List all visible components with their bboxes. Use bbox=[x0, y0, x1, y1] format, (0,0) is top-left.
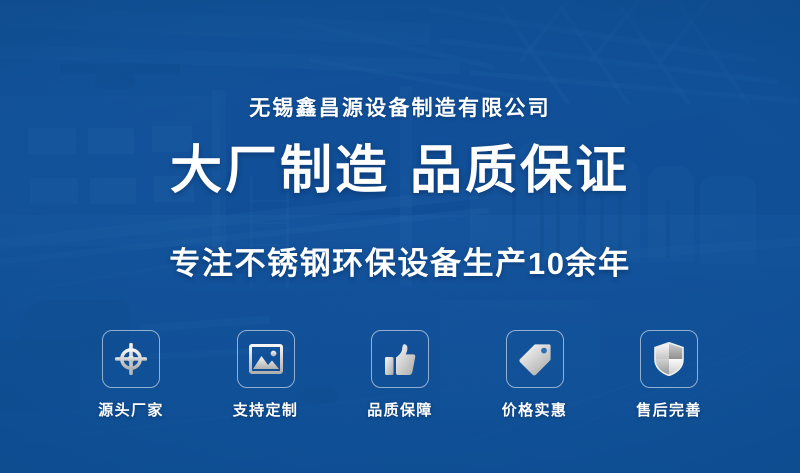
feature-label: 品质保障 bbox=[367, 399, 433, 420]
subheadline: 专注不锈钢环保设备生产10余年 bbox=[0, 238, 800, 283]
icon-box bbox=[237, 330, 295, 388]
company-name: 无锡鑫昌源设备制造有限公司 bbox=[0, 92, 800, 122]
feature-item-quality[interactable]: 品质保障 bbox=[339, 330, 461, 420]
headline-right: 品质保证 bbox=[410, 142, 630, 200]
price-tag-icon bbox=[518, 343, 551, 376]
feature-label: 源头厂家 bbox=[98, 399, 164, 420]
headline-left: 大厂制造 bbox=[170, 142, 390, 200]
feature-label: 售后完善 bbox=[636, 399, 702, 420]
icon-box bbox=[371, 330, 429, 388]
headline: 大厂制造品质保证 bbox=[0, 142, 800, 202]
feature-list: 源头厂家 支持定制 bbox=[70, 330, 730, 420]
feature-item-customization[interactable]: 支持定制 bbox=[205, 330, 327, 420]
crosshair-target-icon bbox=[114, 342, 148, 376]
promo-banner: 无锡鑫昌源设备制造有限公司 大厂制造品质保证 专注不锈钢环保设备生产10余年 bbox=[0, 0, 800, 473]
icon-box bbox=[640, 330, 698, 388]
icon-box bbox=[506, 330, 564, 388]
feature-item-source-manufacturer[interactable]: 源头厂家 bbox=[70, 330, 192, 420]
feature-label: 支持定制 bbox=[233, 399, 299, 420]
shield-icon bbox=[654, 342, 684, 376]
feature-item-price[interactable]: 价格实惠 bbox=[474, 330, 596, 420]
icon-box bbox=[102, 330, 160, 388]
thumbs-up-icon bbox=[384, 343, 416, 376]
feature-item-after-sales[interactable]: 售后完善 bbox=[608, 330, 730, 420]
feature-label: 价格实惠 bbox=[502, 399, 568, 420]
image-picture-icon bbox=[249, 344, 283, 374]
